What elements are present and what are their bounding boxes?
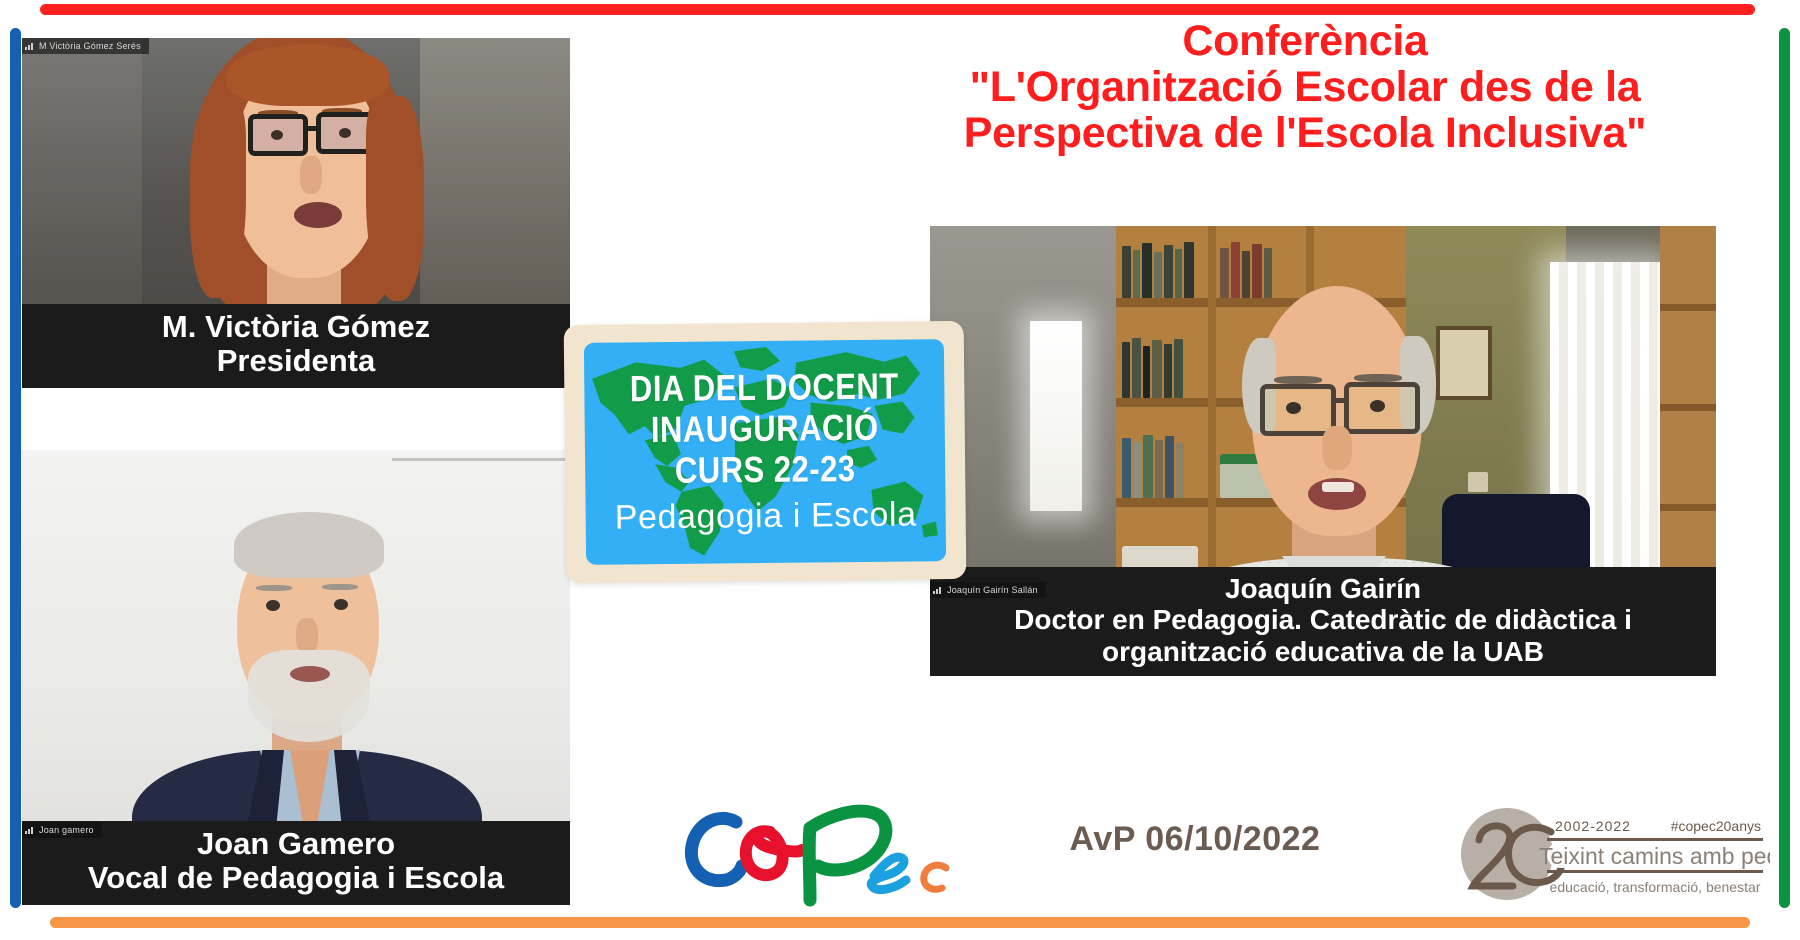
slide-title-line-2: "L'Organització Escolar des de la (840, 64, 1770, 110)
eyeglass-bridge (1334, 398, 1346, 403)
eye-right (1370, 400, 1385, 412)
zoom-participant-name: Joaquín Gairín Sallán (947, 583, 1038, 597)
caption-name: Joaquín Gairín (938, 573, 1708, 604)
slide-title-line-1: Conferència (840, 18, 1770, 64)
hair-side-left (190, 98, 246, 298)
eye-left (1286, 402, 1301, 414)
nose (296, 618, 318, 654)
event-code-date: AvP 06/10/2022 (1030, 820, 1360, 859)
shelf-right-1 (1660, 304, 1716, 311)
eyeglass-bridge (306, 126, 319, 131)
signal-icon (25, 826, 35, 834)
event-sticker-inner: DIA DEL DOCENT INAUGURACIÓ CURS 22-23 Pe… (584, 339, 946, 565)
mouth (294, 202, 342, 228)
shelf-right-2 (1660, 404, 1716, 411)
hair (234, 512, 384, 578)
frame-bar-right (1779, 28, 1790, 908)
hair-side-right (366, 96, 424, 301)
anniversary-logo: 2002-2022 #copec20anys Teixint camins am… (1455, 798, 1770, 910)
slide-title-line-3: Perspectiva de l'Escola Inclusiva" (840, 110, 1770, 156)
event-sticker-text: DIA DEL DOCENT INAUGURACIÓ CURS 22-23 Pe… (584, 339, 946, 565)
nose (300, 156, 322, 194)
slide-title: Conferència "L'Organització Escolar des … (840, 18, 1770, 156)
books-row-1b (1220, 240, 1302, 298)
eye-left (271, 130, 283, 140)
video-tile-joaquin[interactable]: Joaquín Gairín Sallán Joaquín Gairín Doc… (930, 226, 1716, 676)
eye-right (334, 599, 348, 610)
sticker-line-4: Pedagogia i Escola (615, 497, 917, 534)
anniversary-hashtag: #copec20anys (1671, 818, 1761, 834)
window-left (1030, 321, 1082, 511)
tile-caption-joan: Joan Gamero Vocal de Pedagogia i Escola (22, 821, 570, 905)
frame-bar-left (10, 28, 21, 908)
anniversary-years: 2002-2022 (1555, 818, 1631, 834)
anniversary-tagline: Teixint camins amb pedagogia (1539, 843, 1770, 869)
presentation-slide: Conferència "L'Organització Escolar des … (0, 0, 1800, 940)
zoom-participant-chip: Joan gamero (22, 822, 102, 838)
event-sticker-card: DIA DEL DOCENT INAUGURACIÓ CURS 22-23 Pe… (564, 321, 967, 583)
zoom-participant-name: M Victòria Gómez Serés (39, 39, 141, 53)
nose (1322, 426, 1352, 470)
sticker-line-1: DIA DEL DOCENT (630, 367, 899, 406)
books-row-2 (1122, 336, 1206, 398)
eyebrow-right (322, 584, 358, 590)
wall-socket (1468, 472, 1488, 492)
caption-role: Vocal de Pedagogia i Escola (30, 861, 562, 896)
tile-caption-victoria: M. Victòria Gómez Presidenta (22, 304, 570, 388)
eye-left (266, 600, 280, 611)
eye-right (339, 128, 351, 138)
caption-name: Joan Gamero (30, 827, 562, 862)
hair-fringe (227, 44, 389, 106)
zoom-participant-chip: M Victòria Gómez Serés (22, 38, 149, 54)
eyebrow-left (256, 585, 292, 591)
video-tile-joan[interactable]: Joan gamero Joan Gamero Vocal de Pedagog… (22, 450, 570, 905)
caption-role-line-1: Doctor en Pedagogia. Catedràtic de didàc… (938, 604, 1708, 635)
wall-edge-line (392, 458, 570, 461)
video-tile-victoria[interactable]: M Victòria Gómez Serés M. Victòria Gómez… (22, 38, 570, 388)
sticker-line-3: CURS 22-23 (675, 450, 856, 488)
zoom-participant-chip: Joaquín Gairín Sallán (930, 582, 1046, 598)
beard (248, 650, 370, 742)
teeth (1322, 482, 1354, 492)
anniversary-subtagline: educació, transformació, benestar (1550, 879, 1761, 895)
frame-bar-bottom (50, 917, 1750, 928)
frame-bar-top (40, 4, 1755, 15)
tile-caption-joaquin: Joaquín Gairín Doctor en Pedagogia. Cate… (930, 567, 1716, 676)
caption-name: M. Victòria Gómez (30, 310, 562, 345)
eyebrow-left (1274, 376, 1322, 384)
signal-icon (933, 586, 943, 594)
books-row-1 (1122, 240, 1206, 298)
copec-logo-svg (678, 788, 968, 908)
shelf-right-3 (1660, 504, 1716, 511)
framed-picture (1436, 326, 1492, 400)
books-row-3 (1122, 432, 1206, 498)
copec-logo (678, 788, 968, 908)
caption-role: Presidenta (30, 344, 562, 379)
anniversary-logo-svg: 2002-2022 #copec20anys Teixint camins am… (1455, 798, 1770, 910)
sticker-line-2: INAUGURACIÓ (651, 409, 879, 448)
mouth (290, 666, 330, 682)
zoom-participant-name: Joan gamero (39, 823, 94, 837)
caption-role-line-2: organització educativa de la UAB (938, 636, 1708, 667)
signal-icon (25, 42, 35, 50)
eyebrow-right (1354, 374, 1402, 382)
